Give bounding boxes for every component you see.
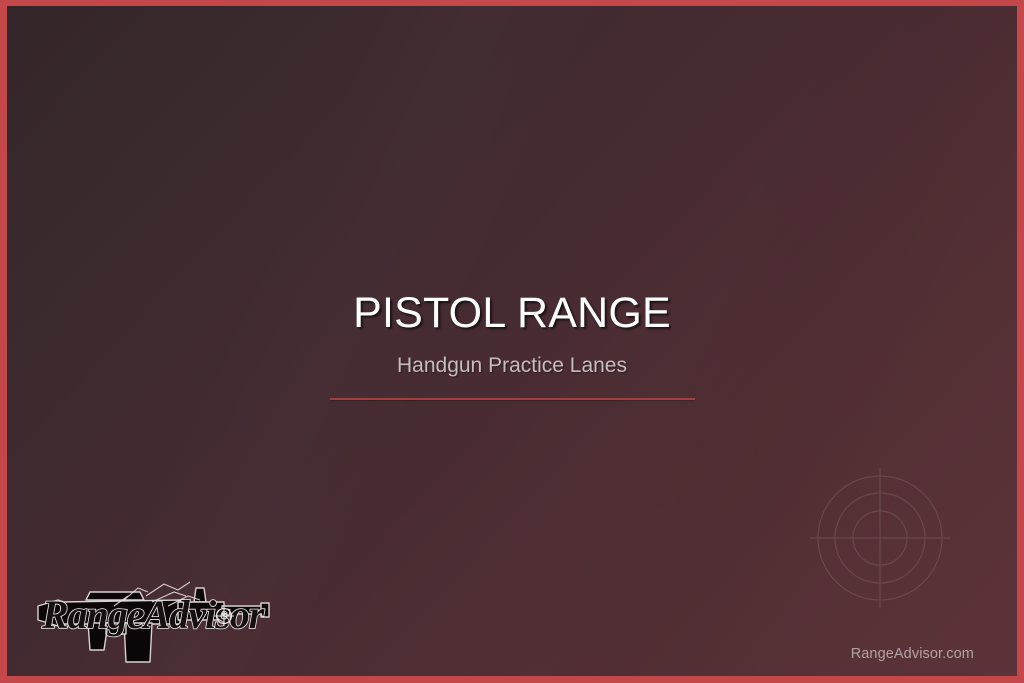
- presentation-slide: PISTOL RANGE Handgun Practice Lanes: [0, 0, 1024, 683]
- crosshair-target-icon: [808, 466, 952, 610]
- title-divider: [330, 398, 695, 400]
- page-subtitle: Handgun Practice Lanes: [7, 335, 1017, 376]
- slide-background: PISTOL RANGE Handgun Practice Lanes: [7, 6, 1017, 676]
- footer-url: RangeAdvisor.com: [851, 646, 974, 662]
- page-title: PISTOL RANGE: [7, 292, 1017, 335]
- brand-logo: RangeAdvisor: [28, 562, 278, 674]
- title-block: PISTOL RANGE Handgun Practice Lanes: [7, 292, 1017, 400]
